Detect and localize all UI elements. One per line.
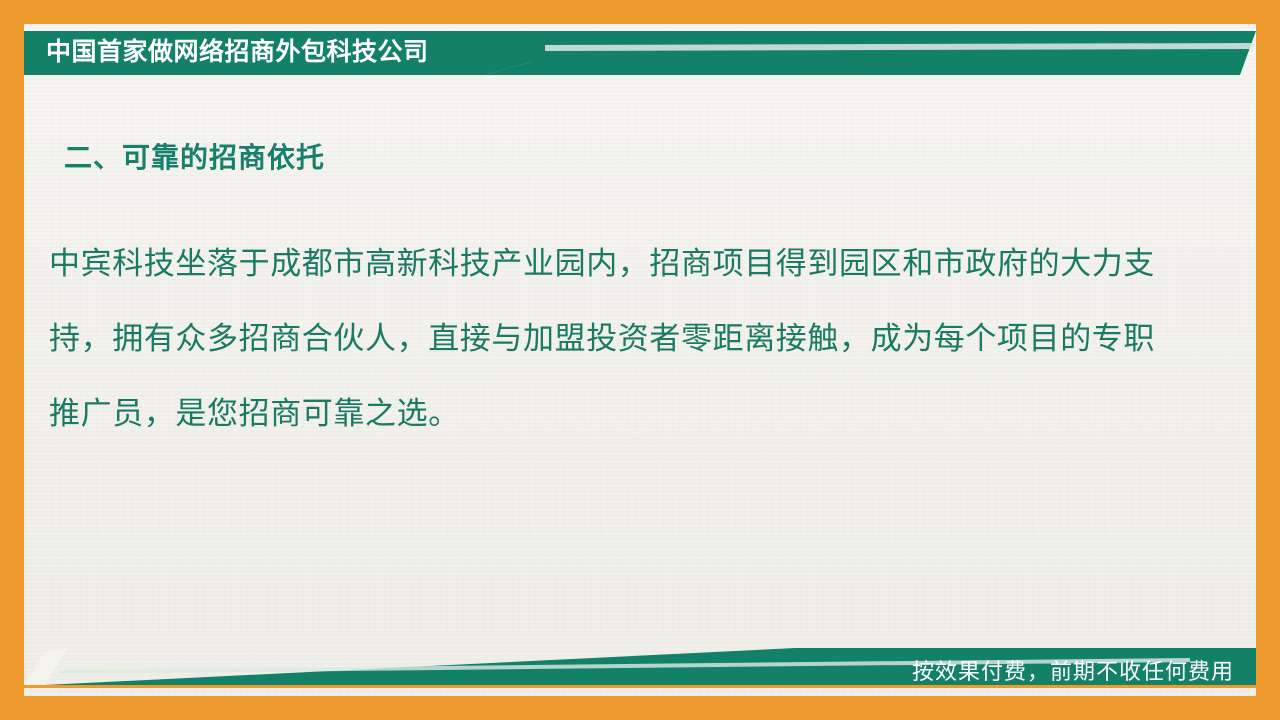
body-line-3: 推广员，是您招商可靠之选。 [49, 376, 1189, 451]
body-line-1: 中宾科技坐落于成都市高新科技产业园内，招商项目得到园区和市政府的大力支 [49, 226, 1189, 301]
presentation-slide: 中国首家做网络招商外包科技公司 二、可靠的招商依托 中宾科技坐落于成都市高新科技… [0, 0, 1280, 720]
body-line-2: 持，拥有众多招商合伙人，直接与加盟投资者零距离接触，成为每个项目的专职 [49, 301, 1189, 376]
body-paragraph: 中宾科技坐落于成都市高新科技产业园内，招商项目得到园区和市政府的大力支 持，拥有… [49, 226, 1189, 451]
section-heading: 二、可靠的招商依托 [64, 136, 325, 176]
